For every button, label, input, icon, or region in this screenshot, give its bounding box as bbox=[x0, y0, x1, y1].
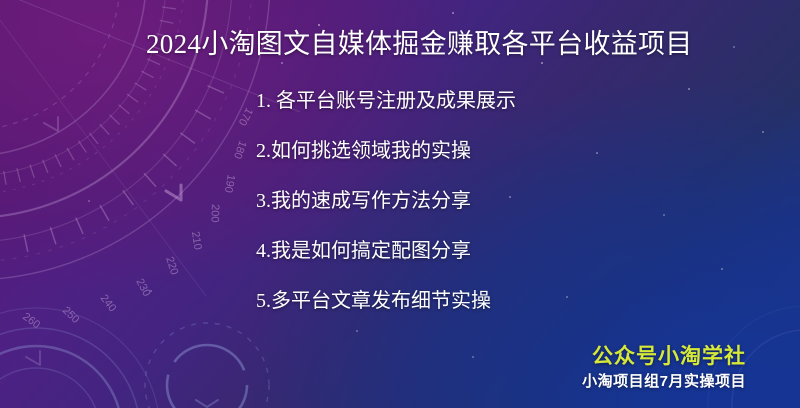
list-item: 5.多平台文章发布细节实操 bbox=[256, 288, 716, 314]
brand-subtitle: 小淘项目组7月实操项目 bbox=[582, 371, 746, 392]
svg-text:240: 240 bbox=[98, 292, 119, 314]
svg-text:180: 180 bbox=[231, 139, 249, 160]
dial-degree-labels: 170 180 190 200 210 220 230 240 250 260 bbox=[20, 106, 255, 332]
slide-canvas: 170 180 190 200 210 220 230 240 250 260 bbox=[0, 0, 800, 408]
list-item: 1. 各平台账号注册及成果展示 bbox=[256, 88, 716, 114]
chevron-marker-icon bbox=[166, 185, 181, 200]
concentric-arcs-icon bbox=[0, 308, 160, 408]
svg-text:210: 210 bbox=[189, 231, 203, 251]
svg-text:200: 200 bbox=[208, 204, 221, 223]
svg-text:260: 260 bbox=[20, 311, 42, 331]
brand-name: 公众号小淘学社 bbox=[582, 343, 746, 369]
dashed-ring-icon bbox=[145, 323, 269, 408]
svg-text:230: 230 bbox=[133, 277, 152, 299]
footer-watermark: 公众号小淘学社 小淘项目组7月实操项目 bbox=[582, 343, 746, 392]
list-item: 3.我的速成写作方法分享 bbox=[256, 188, 716, 214]
svg-text:170: 170 bbox=[236, 106, 255, 128]
list-item: 2.如何挑选领域我的实操 bbox=[256, 138, 716, 164]
agenda-list: 1. 各平台账号注册及成果展示 2.如何挑选领域我的实操 3.我的速成写作方法分… bbox=[256, 88, 716, 314]
svg-text:220: 220 bbox=[163, 255, 180, 276]
page-title: 2024小淘图文自媒体掘金赚取各平台收益项目 bbox=[146, 27, 693, 61]
svg-text:190: 190 bbox=[222, 173, 237, 193]
svg-text:250: 250 bbox=[60, 305, 82, 326]
list-item: 4.我是如何搞定配图分享 bbox=[256, 238, 716, 264]
